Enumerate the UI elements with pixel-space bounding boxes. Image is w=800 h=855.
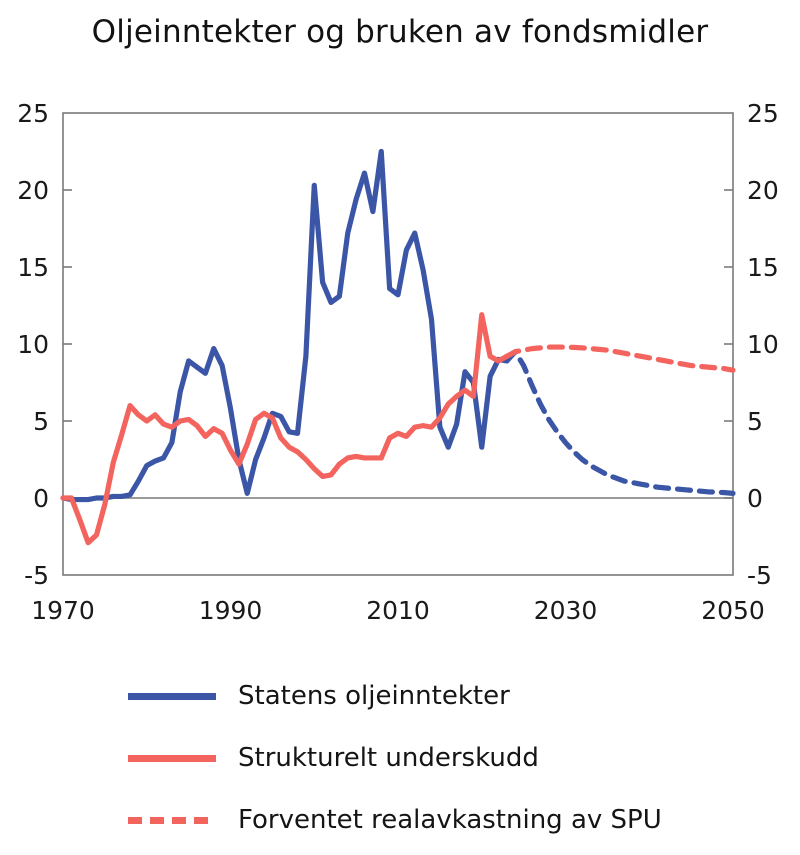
y-axis-tick-label-left: 25 [17,99,49,128]
line-chart-plot: -5-5005510101515202025251970199020102030… [0,0,800,660]
legend-item-statens-oljeinntekter: Statens oljeinntekter [0,665,800,727]
y-axis-tick-label-right: 10 [747,330,779,359]
legend-label: Strukturelt underskudd [238,743,539,773]
axis-layer [63,113,733,575]
y-axis-tick-label-left: 0 [33,484,49,513]
x-axis-tick-label: 1970 [31,596,95,625]
x-axis-tick-label: 2050 [701,596,765,625]
legend-item-strukturelt-underskudd: Strukturelt underskudd [0,727,800,789]
chart-figure: Oljeinntekter og bruken av fondsmidler -… [0,0,800,855]
legend-swatch-solid-red-icon [128,755,216,762]
y-axis-tick-label-right: 20 [747,176,779,205]
y-axis-tick-label-right: 0 [747,484,763,513]
y-axis-tick-label-left: 20 [17,176,49,205]
y-axis-tick-label-left: 15 [17,253,49,282]
y-axis-tick-label-left: 10 [17,330,49,359]
chart-legend: Statens oljeinntekter Strukturelt unders… [0,665,800,851]
y-axis-tick-label-left: -5 [24,561,49,590]
y-axis-tick-label-right: -5 [747,561,772,590]
legend-item-forventet-realavkastning: Forventet realavkastning av SPU [0,789,800,851]
legend-label: Statens oljeinntekter [238,681,510,711]
y-axis-tick-label-right: 15 [747,253,779,282]
x-axis-tick-label: 1990 [199,596,263,625]
x-axis-tick-label: 2030 [534,596,598,625]
y-axis-tick-label-right: 25 [747,99,779,128]
y-axis-tick-label-right: 5 [747,407,763,436]
x-axis-tick-label: 2010 [366,596,430,625]
legend-swatch-solid-blue-icon [128,693,216,700]
series-line [507,347,733,370]
series-line [507,352,733,494]
legend-label: Forventet realavkastning av SPU [238,805,662,835]
plot-frame [63,113,733,575]
series-line [63,152,507,500]
y-axis-tick-label-left: 5 [33,407,49,436]
series-layer [63,152,733,543]
legend-swatch-dashed-red-icon [128,817,216,824]
